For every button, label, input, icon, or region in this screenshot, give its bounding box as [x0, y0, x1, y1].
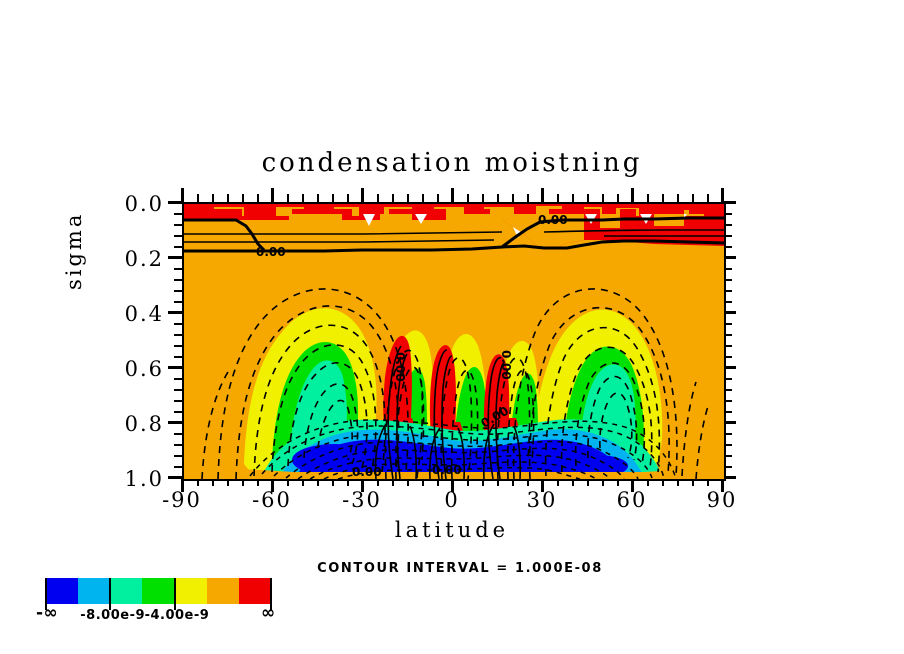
x-minor-tick: [707, 194, 709, 202]
y-tick-label-4: 0.8: [98, 412, 164, 436]
x-minor-tick: [287, 194, 289, 202]
x-minor-tick: [212, 194, 214, 202]
contour-plot-area[interactable]: 0.00 0.00 0.00 0.00 0.00 0.00 0.00: [182, 202, 726, 481]
y-major-tick: [168, 201, 182, 204]
colorbar-swatch-4[interactable]: [175, 578, 207, 604]
contour-label-0.00: 0.00: [499, 350, 513, 380]
x-minor-tick: [332, 194, 334, 202]
x-minor-tick: [377, 194, 379, 202]
x-minor-tick: [692, 194, 694, 202]
x-minor-tick: [317, 194, 319, 202]
figure-canvas: condensation moistning sigma 0.0 0.2 0.4…: [0, 0, 904, 654]
y-minor-tick: [174, 433, 182, 435]
x-major-tick-top: [361, 188, 364, 202]
y-tick-label-3: 0.6: [98, 357, 164, 381]
y-minor-tick: [174, 268, 182, 270]
y-minor-tick: [174, 246, 182, 248]
x-axis-label: latitude: [312, 518, 592, 542]
y-tick-label-2: 0.4: [98, 302, 164, 326]
contour-field: 0.00 0.00 0.00 0.00 0.00 0.00 0.00: [184, 204, 724, 479]
x-minor-tick: [497, 194, 499, 202]
y-major-tick: [168, 476, 182, 479]
y-major-tick: [168, 366, 182, 369]
colorbar-swatch-0[interactable]: [46, 578, 78, 604]
y-tick-label-1: 0.2: [98, 247, 164, 271]
x-minor-tick: [572, 194, 574, 202]
x-major-tick-top: [181, 188, 184, 202]
y-minor-tick: [174, 213, 182, 215]
contour-label-0.00: 0.00: [352, 465, 382, 479]
x-major-tick-top: [271, 188, 274, 202]
colorbar-swatch-2[interactable]: [110, 578, 142, 604]
x-minor-tick: [587, 194, 589, 202]
y-minor-tick: [174, 301, 182, 303]
contour-label-0.00: 0.00: [256, 245, 286, 259]
x-minor-tick: [422, 194, 424, 202]
y-minor-tick: [174, 224, 182, 226]
y-minor-tick: [174, 356, 182, 358]
x-minor-tick: [227, 194, 229, 202]
y-minor-tick: [174, 334, 182, 336]
colorbar-label-0: -∞: [36, 603, 58, 623]
colorbar-swatch-5[interactable]: [207, 578, 239, 604]
y-minor-tick: [174, 378, 182, 380]
colorbar[interactable]: [46, 578, 271, 604]
x-minor-tick: [242, 194, 244, 202]
y-tick-label-0: 0.0: [98, 192, 164, 216]
x-minor-tick: [482, 194, 484, 202]
x-minor-tick: [257, 194, 259, 202]
contour-plot-clip: 0.00 0.00 0.00 0.00 0.00 0.00 0.00: [184, 204, 724, 479]
x-minor-tick: [602, 194, 604, 202]
x-minor-tick: [392, 194, 394, 202]
contour-label-0.00: 0.00: [538, 213, 568, 227]
y-minor-tick: [174, 466, 182, 468]
y-minor-tick: [174, 455, 182, 457]
x-minor-tick: [662, 194, 664, 202]
x-minor-tick: [197, 194, 199, 202]
y-minor-tick: [174, 290, 182, 292]
x-minor-tick: [617, 194, 619, 202]
y-minor-tick: [174, 345, 182, 347]
x-minor-tick: [407, 194, 409, 202]
colorbar-label-1: -8.00e-9: [80, 608, 145, 623]
y-minor-tick: [174, 235, 182, 237]
y-minor-tick: [174, 400, 182, 402]
x-minor-tick: [527, 194, 529, 202]
x-minor-tick: [467, 194, 469, 202]
y-major-tick: [168, 256, 182, 259]
x-minor-tick: [302, 194, 304, 202]
y-major-tick: [168, 311, 182, 314]
x-major-tick-top: [541, 188, 544, 202]
colorbar-label-2: -4.00e-9: [145, 608, 210, 623]
contour-interval-caption: CONTOUR INTERVAL = 1.000E-08: [250, 561, 670, 576]
x-minor-tick: [557, 194, 559, 202]
colorbar-swatch-6[interactable]: [239, 578, 271, 604]
contour-label-0.00: 0.00: [432, 463, 462, 477]
y-axis-label: sigma: [62, 212, 86, 290]
y-major-tick: [168, 421, 182, 424]
colorbar-tick-2: [174, 578, 176, 610]
y-minor-tick: [174, 411, 182, 413]
contour-label-0.00: 0.00: [393, 352, 407, 382]
x-minor-tick: [512, 194, 514, 202]
y-minor-tick: [174, 279, 182, 281]
colorbar-swatch-3[interactable]: [142, 578, 174, 604]
x-major-tick-top: [631, 188, 634, 202]
y-minor-tick: [174, 444, 182, 446]
chart-title: condensation moistning: [182, 148, 722, 178]
y-minor-tick: [174, 323, 182, 325]
colorbar-label-3: ∞: [261, 603, 276, 623]
x-major-tick-top: [721, 188, 724, 202]
colorbar-swatch-1[interactable]: [78, 578, 110, 604]
colorbar-tick-1: [109, 578, 111, 610]
x-major-tick-top: [451, 188, 454, 202]
x-minor-tick: [437, 194, 439, 202]
y-minor-tick: [174, 389, 182, 391]
x-minor-tick: [677, 194, 679, 202]
x-minor-tick: [347, 194, 349, 202]
x-minor-tick: [647, 194, 649, 202]
